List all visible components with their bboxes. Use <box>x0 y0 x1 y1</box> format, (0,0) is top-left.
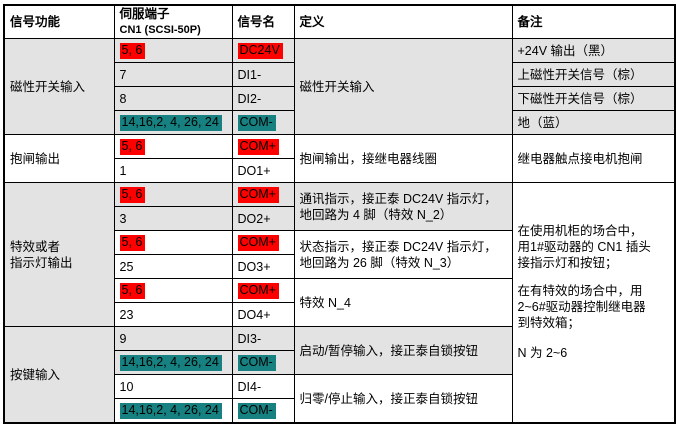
cell-signal-name: DI1- <box>232 63 294 87</box>
cell-signal-name: DC24V <box>232 39 294 63</box>
cell-signal-function: 特效或者 指示灯输出 <box>4 183 114 327</box>
header-signal-name: 信号名 <box>232 5 294 39</box>
header-servo-terminal-sub: CN1 (SCSI-50P) <box>120 23 227 37</box>
signal-chip: COM+ <box>238 139 279 156</box>
cell-definition: 通讯指示，接正泰 DC24V 指示灯， 地回路为 4 脚（特效 N_2） <box>294 183 512 231</box>
cell-terminal: 14,16,2, 4, 26, 24 <box>114 111 232 135</box>
terminal-chip: 5, 6 <box>120 43 146 60</box>
cell-remark: 下磁性开关信号（棕） <box>512 87 675 111</box>
cell-definition: 磁性开关输入 <box>294 39 512 135</box>
remark-para-2: 在有特效的场合中，用 2~6#驱动器控制继电器 到特效箱； <box>518 283 670 331</box>
terminal-chip: 14,16,2, 4, 26, 24 <box>120 115 222 132</box>
header-servo-terminal: 伺服端子 CN1 (SCSI-50P) <box>114 5 232 39</box>
signal-chip: COM+ <box>238 187 279 204</box>
remark-para-3: N 为 2~6 <box>518 345 670 361</box>
cell-signal-name: DO3+ <box>232 255 294 279</box>
signal-chip: COM+ <box>238 235 279 252</box>
cell-signal-name: DI4- <box>232 375 294 399</box>
table-row: 抱闸输出 5, 6 COM+ 抱闸输出，接继电器线圈 继电器触点接电机抱闸 <box>4 135 675 159</box>
cell-terminal: 25 <box>114 255 232 279</box>
header-definition: 定义 <box>294 5 512 39</box>
header-remark: 备注 <box>512 5 675 39</box>
cell-terminal: 23 <box>114 303 232 327</box>
remark-para-1: 在使用机柜的场合中， 用1#驱动器的 CN1 插头 接指示灯和按钮； <box>518 223 670 271</box>
cell-definition: 归零/停止输入，接正泰自锁按钮 <box>294 375 512 424</box>
terminal-chip: 5, 6 <box>120 283 146 300</box>
cell-definition: 状态指示，接正泰 DC24V 指示灯， 地回路为 26 脚（特效 N_3） <box>294 231 512 279</box>
cell-definition-text: 通讯指示，接正泰 DC24V 指示灯， 地回路为 4 脚（特效 N_2） <box>300 192 497 222</box>
cell-terminal: 9 <box>114 327 232 351</box>
signal-chip: COM- <box>238 403 276 420</box>
cell-signal-name: COM+ <box>232 183 294 207</box>
cell-definition-text: 状态指示，接正泰 DC24V 指示灯， 地回路为 26 脚（特效 N_3） <box>300 240 497 270</box>
cell-signal-name: DI2- <box>232 87 294 111</box>
cell-signal-name: COM+ <box>232 135 294 159</box>
table-body: 磁性开关输入 5, 6 DC24V 磁性开关输入 +24V 输出（黑） 7 DI… <box>4 39 675 424</box>
remark-line-6: 到特效箱； <box>518 315 670 331</box>
header-servo-terminal-main: 伺服端子 <box>120 7 170 21</box>
cell-definition: 启动/暂停输入，接正泰自锁按钮 <box>294 327 512 375</box>
cell-terminal: 5, 6 <box>114 135 232 159</box>
wiring-table-container: 信号功能 伺服端子 CN1 (SCSI-50P) 信号名 定义 备注 磁性开关输… <box>0 0 676 411</box>
cell-signal-name: DO2+ <box>232 207 294 231</box>
terminal-chip: 14,16,2, 4, 26, 24 <box>120 355 222 372</box>
cell-remark: 继电器触点接电机抱闸 <box>512 135 675 183</box>
signal-chip: COM- <box>238 355 276 372</box>
cell-signal-name: DO4+ <box>232 303 294 327</box>
remark-line-1: 在使用机柜的场合中， <box>518 223 670 239</box>
header-signal-function: 信号功能 <box>4 5 114 39</box>
terminal-chip: 5, 6 <box>120 139 146 156</box>
cell-remark: +24V 输出（黑） <box>512 39 675 63</box>
cell-terminal: 3 <box>114 207 232 231</box>
remark-line-2: 用1#驱动器的 CN1 插头 <box>518 239 670 255</box>
header-row: 信号功能 伺服端子 CN1 (SCSI-50P) 信号名 定义 备注 <box>4 5 675 39</box>
cell-signal-function-text: 特效或者 指示灯输出 <box>10 240 73 270</box>
cell-signal-function: 按键输入 <box>4 327 114 424</box>
servo-wiring-table: 信号功能 伺服端子 CN1 (SCSI-50P) 信号名 定义 备注 磁性开关输… <box>3 4 676 424</box>
cell-terminal: 8 <box>114 87 232 111</box>
table-row: 特效或者 指示灯输出 5, 6 COM+ 通讯指示，接正泰 DC24V 指示灯，… <box>4 183 675 207</box>
cell-terminal: 5, 6 <box>114 183 232 207</box>
cell-signal-name: COM+ <box>232 279 294 303</box>
cell-remark: 上磁性开关信号（棕） <box>512 63 675 87</box>
cell-signal-function: 磁性开关输入 <box>4 39 114 135</box>
cell-remark: 地（蓝） <box>512 111 675 135</box>
cell-terminal: 5, 6 <box>114 39 232 63</box>
cell-terminal: 5, 6 <box>114 231 232 255</box>
terminal-chip: 14,16,2, 4, 26, 24 <box>120 403 222 420</box>
cell-terminal: 10 <box>114 375 232 399</box>
terminal-chip: 5, 6 <box>120 187 146 204</box>
remark-line-4: 在有特效的场合中，用 <box>518 283 670 299</box>
cell-signal-name: DI3- <box>232 327 294 351</box>
cell-signal-name: COM- <box>232 351 294 375</box>
signal-chip: DC24V <box>238 43 283 60</box>
cell-terminal: 1 <box>114 159 232 183</box>
cell-terminal: 7 <box>114 63 232 87</box>
cell-signal-name: COM+ <box>232 231 294 255</box>
table-row: 磁性开关输入 5, 6 DC24V 磁性开关输入 +24V 输出（黑） <box>4 39 675 63</box>
cell-remark-merged: 在使用机柜的场合中， 用1#驱动器的 CN1 插头 接指示灯和按钮； 在有特效的… <box>512 183 675 424</box>
cell-terminal: 14,16,2, 4, 26, 24 <box>114 351 232 375</box>
remark-line-3: 接指示灯和按钮； <box>518 255 670 271</box>
cell-terminal: 5, 6 <box>114 279 232 303</box>
cell-signal-name: DO1+ <box>232 159 294 183</box>
signal-chip: COM+ <box>238 283 279 300</box>
remark-line-5: 2~6#驱动器控制继电器 <box>518 299 670 315</box>
cell-definition: 特效 N_4 <box>294 279 512 327</box>
cell-definition: 抱闸输出，接继电器线圈 <box>294 135 512 183</box>
terminal-chip: 5, 6 <box>120 235 146 252</box>
cell-signal-function: 抱闸输出 <box>4 135 114 183</box>
signal-chip: COM- <box>238 115 276 132</box>
table-header: 信号功能 伺服端子 CN1 (SCSI-50P) 信号名 定义 备注 <box>4 5 675 39</box>
remark-line-7: N 为 2~6 <box>518 345 670 361</box>
cell-signal-name: COM- <box>232 111 294 135</box>
